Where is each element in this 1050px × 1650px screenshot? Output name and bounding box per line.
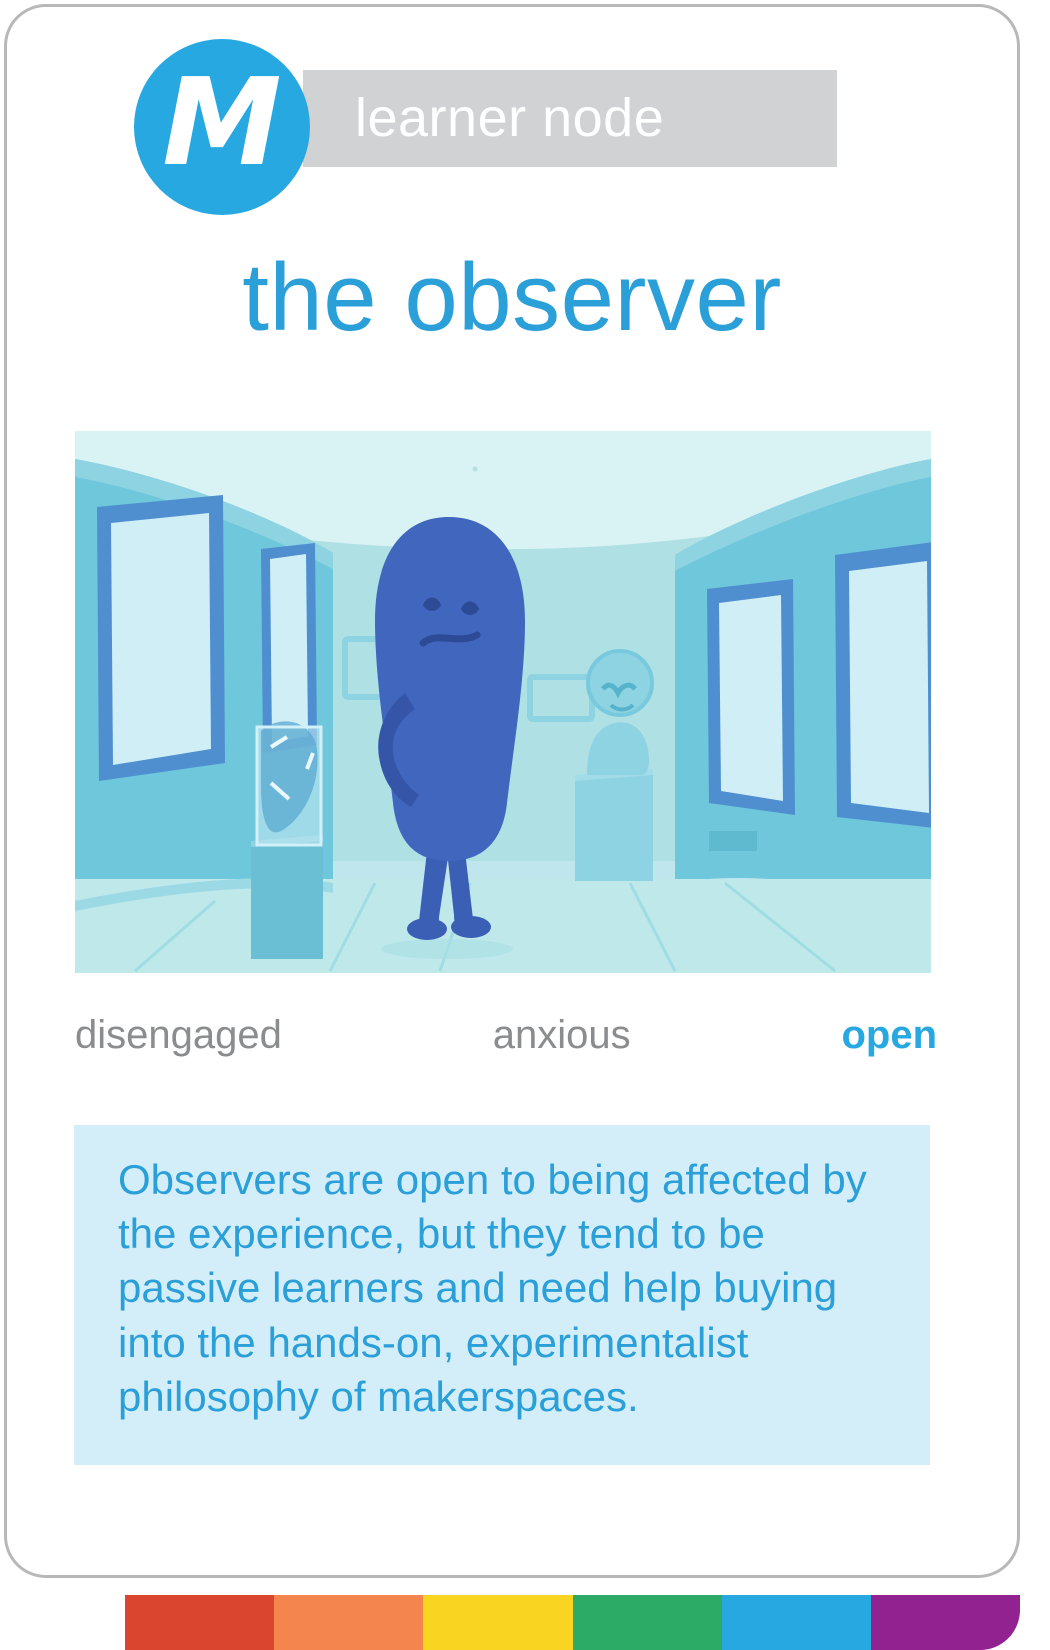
left-display-case	[251, 721, 323, 959]
left-large-frame	[97, 495, 225, 781]
right-frame-inner	[707, 579, 795, 815]
description-text: Observers are open to being affected by …	[118, 1153, 908, 1424]
swatch-purple	[871, 1595, 1020, 1650]
swatch-blue	[722, 1595, 871, 1650]
trait-open: open	[841, 1013, 937, 1058]
left-small-frame	[261, 543, 317, 753]
swatch-orange	[274, 1595, 423, 1650]
trait-disengaged: disengaged	[75, 1013, 282, 1058]
observer-illustration	[75, 431, 931, 973]
page-title: the observer	[7, 245, 1017, 351]
brand-bar: learner node	[303, 70, 837, 167]
trait-anxious: anxious	[493, 1013, 631, 1058]
swatch-green	[573, 1595, 722, 1650]
description-box: Observers are open to being affected by …	[74, 1125, 930, 1465]
trait-row: disengaged anxious open	[75, 1007, 937, 1063]
learner-node-card: learner node M the observer	[4, 4, 1020, 1578]
logo-letter: M	[134, 39, 310, 215]
swatch-red	[125, 1595, 274, 1650]
card-header: learner node M	[7, 7, 1017, 227]
swatch-yellow	[423, 1595, 572, 1650]
right-frame-outer	[835, 541, 931, 829]
logo-icon: M	[134, 39, 310, 215]
gallery-scene-svg	[75, 431, 931, 973]
color-swatch-strip	[125, 1595, 1020, 1650]
brand-label: learner node	[355, 86, 664, 148]
